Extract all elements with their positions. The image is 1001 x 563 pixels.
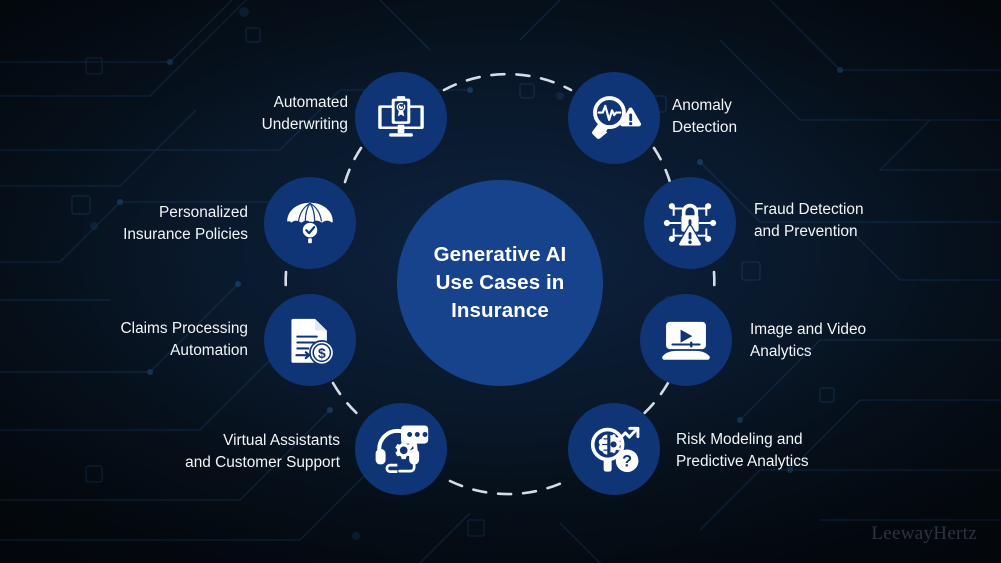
umbrella-check-icon [283,196,337,250]
center-node: Generative AI Use Cases in Insurance [397,180,603,386]
node-risk-modeling-and-predictive-analytics[interactable]: ? [568,403,660,495]
arc-upper-left [345,148,361,182]
monitor-certificate-icon [374,91,428,145]
padlock-circuit-warning-icon [661,194,719,252]
node-automated-underwriting[interactable] [355,72,447,164]
label-image-and-video-analytics: Image and Video Analytics [750,319,930,364]
label-personalized-insurance-policies: Personalized Insurance Policies [60,202,248,247]
label-anomaly-detection: Anomaly Detection [672,95,832,140]
label-risk-modeling-and-predictive-analytics: Risk Modeling and Predictive Analytics [676,429,866,474]
node-anomaly-detection[interactable] [568,72,660,164]
node-image-and-video-analytics[interactable] [640,294,732,386]
label-fraud-detection-and-prevention: Fraud Detection and Prevention [754,199,934,244]
arc-bottom [450,481,566,494]
node-virtual-assistants-and-customer-support[interactable] [355,403,447,495]
video-player-icon [657,311,715,369]
magnifier-pulse-warning-icon [585,89,643,147]
label-virtual-assistants-and-customer-support: Virtual Assistants and Customer Support [120,430,340,475]
node-claims-processing-automation[interactable]: $ [264,294,356,386]
label-claims-processing-automation: Claims Processing Automation [50,318,248,363]
arc-upper-right [654,148,670,182]
magnifier-brain-trend-icon: ? [585,420,643,478]
headset-gear-chat-icon [372,420,430,478]
svg-text:$: $ [318,345,326,361]
label-automated-underwriting: Automated Underwriting [138,92,348,137]
node-fraud-detection-and-prevention[interactable] [644,177,736,269]
arc-lower-left [333,383,362,418]
center-title: Generative AI Use Cases in Insurance [434,241,567,326]
arc-top [444,74,571,90]
node-personalized-insurance-policies[interactable] [264,177,356,269]
svg-text:?: ? [622,452,632,470]
infographic-canvas: Generative AI Use Cases in Insurance [0,0,1001,563]
watermark-leewayhertz: LeewayHertz [871,523,977,545]
document-dollar-arrow-icon: $ [283,313,337,367]
